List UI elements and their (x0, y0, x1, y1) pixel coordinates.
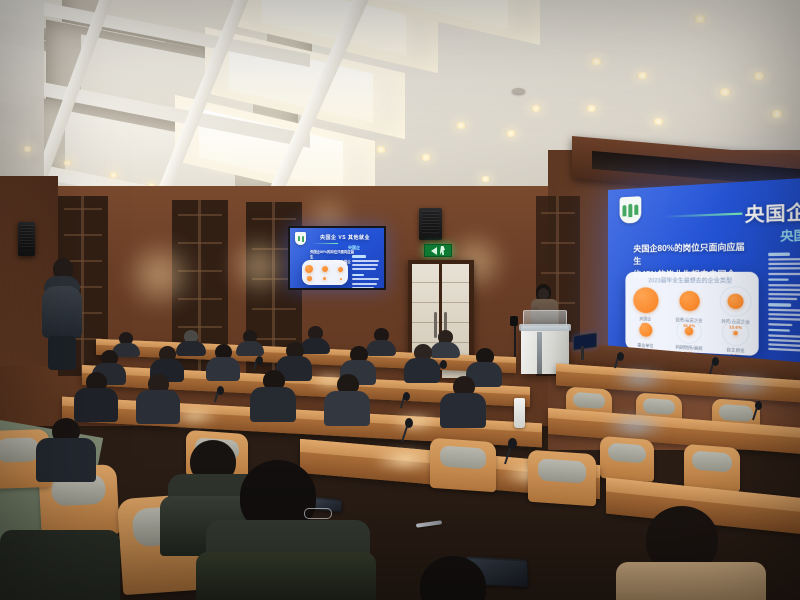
attendee-foreground (36, 418, 96, 478)
bubble-item: 外资/合资企业 13.6% (713, 286, 759, 331)
downlight-icon (505, 130, 517, 137)
secondary-projection-screen: 央国企 VS 其他就业 央国企 央国企80%的岗位只面向应届生约45%的毕业生想… (288, 226, 386, 290)
downlight-icon (480, 176, 491, 182)
downlight-icon (652, 118, 665, 125)
podium-microphone[interactable] (510, 316, 518, 326)
slide-bubble-card-small (302, 260, 348, 285)
foreground-shadow (0, 470, 800, 600)
chart-title: 2023届毕业生最想去的企业类型 (625, 276, 758, 285)
downlight-icon (718, 88, 732, 96)
gooseneck-microphone[interactable] (606, 366, 622, 376)
screen-reflection (590, 418, 680, 434)
lectern-accent-stripe (537, 332, 542, 374)
smoke-detector-icon (512, 88, 525, 94)
downlight-icon (22, 146, 33, 152)
bubble-chart-card: 2023届毕业生最想去的企业类型 央国企 45% 民营/私营企业 16.2% (625, 272, 758, 356)
downlight-icon (636, 72, 649, 79)
slide-subtitle: 央国企80%的岗位只面向应届生 约45%的毕业生想去央国企 (633, 241, 749, 282)
downlight-icon (530, 105, 542, 112)
attendee (236, 330, 264, 354)
main-projection-screen: 央国企 VS 其他就业 央国企 央国企80%的岗位只面向应届生 约45%的毕业生… (608, 177, 800, 371)
downlight-icon (62, 160, 73, 166)
downlight-icon (455, 122, 467, 129)
attendee (136, 374, 180, 422)
wall-speaker (419, 208, 442, 240)
slide-section-label: 央国企 (780, 225, 800, 244)
downlight-icon (752, 72, 766, 80)
attendee (206, 344, 240, 380)
bubble-item: 民营/私营企业 16.2% (668, 285, 711, 328)
bubble-item: 央国企 45% (625, 285, 665, 327)
attendee (440, 376, 486, 426)
attendee (250, 370, 296, 420)
wall-light-glow (224, 236, 294, 296)
exit-sign (424, 244, 452, 257)
slide-headline: 央国企 VS 其他就业 (745, 189, 800, 227)
confidence-monitor (573, 332, 597, 350)
slide-body-text (768, 249, 800, 355)
university-shield-logo (620, 196, 642, 223)
downlight-icon (375, 146, 387, 153)
gooseneck-microphone[interactable] (390, 440, 412, 453)
attendee (74, 372, 118, 420)
lectern-top (519, 324, 571, 331)
downlight-icon (590, 58, 603, 65)
gooseneck-microphone[interactable] (700, 372, 717, 382)
gooseneck-microphone[interactable] (742, 418, 761, 429)
gooseneck-microphone[interactable] (392, 406, 408, 416)
attendee (324, 374, 370, 424)
monitor-stand (581, 346, 584, 360)
downlight-icon (693, 15, 707, 23)
attendee (404, 344, 440, 382)
water-bottle[interactable] (514, 398, 525, 428)
downlight-icon (108, 172, 119, 178)
standing-attendee-legs (48, 336, 76, 370)
slide-subtitle-small: 央国企80%的岗位只面向应届生约45%的毕业生想去央国企 (310, 250, 356, 265)
lecture-hall-photo: 央国企 VS 其他就业 央国企 央国企80%的岗位只面向应届生约45%的毕业生想… (0, 0, 800, 600)
bubble-item: 自主创业 5.2% (713, 319, 759, 356)
standing-attendee (40, 258, 84, 370)
gooseneck-microphone[interactable] (206, 400, 222, 410)
wall-speaker (18, 222, 35, 256)
slide-section-small: 央国企 (348, 245, 360, 251)
downlight-icon (585, 105, 598, 112)
slide-headline-small: 央国企 VS 其他就业 (320, 234, 370, 241)
downlight-icon (770, 110, 784, 118)
slide-body-text-small (352, 252, 380, 290)
university-shield-logo (295, 232, 306, 245)
wall-light-glow (120, 240, 200, 310)
downlight-icon (420, 154, 432, 161)
bubble-row-1: 央国企 45% 民营/私营企业 16.2% 外资/合资企业 13.6% (625, 285, 758, 330)
